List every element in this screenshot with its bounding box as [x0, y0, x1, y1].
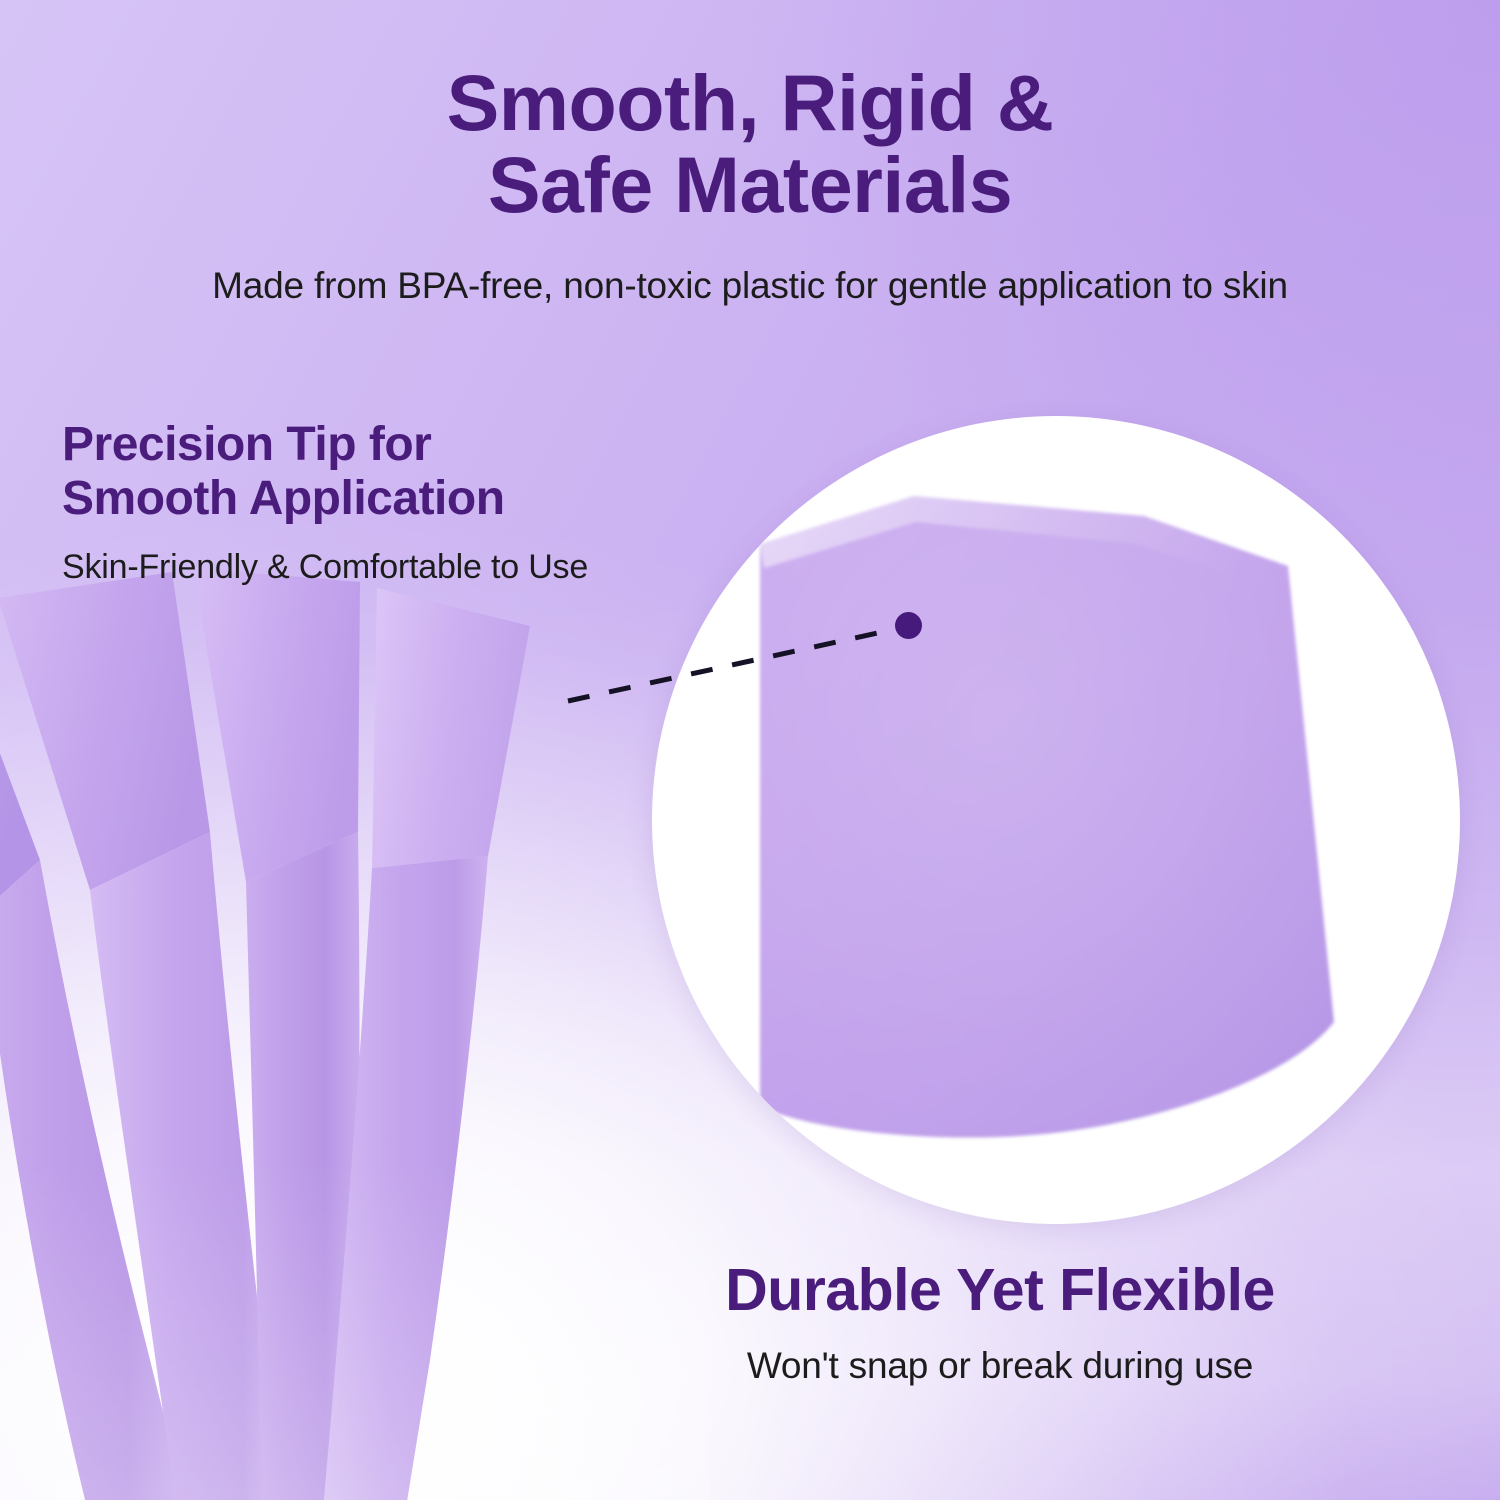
page-title-line2: Safe Materials [0, 144, 1500, 226]
magnifier-circle [652, 416, 1460, 1224]
infographic-canvas: Smooth, Rigid & Safe Materials Made from… [0, 0, 1500, 1500]
feature-left-subtitle: Skin-Friendly & Comfortable to Use [62, 548, 822, 587]
zoomed-blade [760, 496, 1334, 1138]
page-title-line1: Smooth, Rigid & [0, 62, 1500, 144]
page-subtitle: Made from BPA-free, non-toxic plastic fo… [0, 265, 1500, 307]
feature-bottom-subtitle: Won't snap or break during use [520, 1345, 1480, 1387]
magnifier-content [652, 416, 1460, 1224]
feature-left-title-line1: Precision Tip for [62, 418, 762, 472]
callout-dot [895, 612, 922, 639]
feature-bottom-title: Durable Yet Flexible [520, 1258, 1480, 1323]
feature-left-title: Precision Tip for Smooth Application [62, 418, 762, 526]
page-title: Smooth, Rigid & Safe Materials [0, 62, 1500, 226]
feature-left-title-line2: Smooth Application [62, 472, 762, 526]
